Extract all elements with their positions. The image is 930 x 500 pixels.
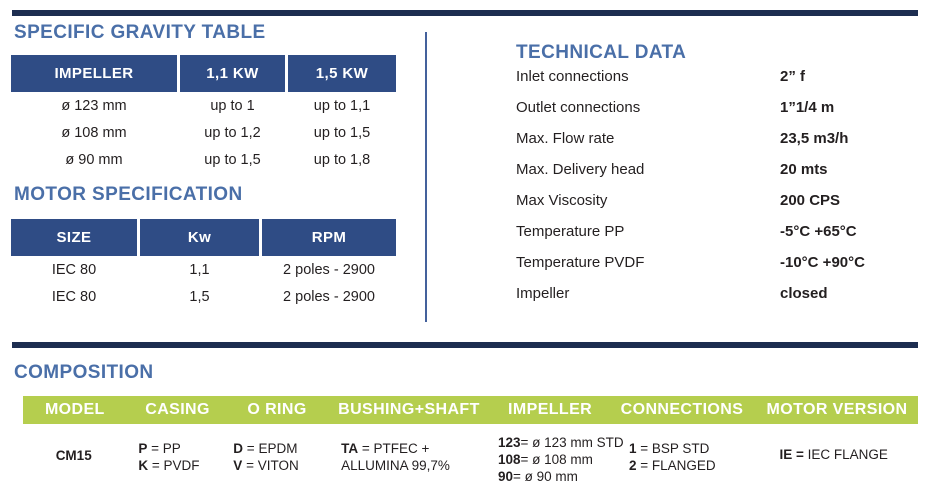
column-header-casing: CASING — [127, 401, 229, 419]
top-rule — [12, 10, 918, 16]
cell-1-1-kw: up to 1 — [180, 92, 285, 119]
option-code: 90 — [498, 469, 513, 484]
option-code: 108 — [498, 452, 521, 467]
table-row: ø 123 mm up to 1 up to 1,1 — [11, 92, 396, 119]
composition-option: 123= ø 123 mm STD — [498, 434, 611, 451]
technical-data-row: Impeller closed — [516, 285, 916, 316]
option-sep: = — [636, 441, 651, 456]
column-header-o-ring: O RING — [228, 401, 325, 419]
technical-data-label: Max. Flow rate — [516, 130, 614, 147]
cell-rpm: 2 poles - 2900 — [262, 283, 396, 310]
section-heading-technical-data: TECHNICAL DATA — [516, 42, 686, 64]
option-code: K — [138, 458, 148, 473]
technical-data-row: Max Viscosity 200 CPS — [516, 192, 916, 223]
cell-1-1-kw: up to 1,2 — [180, 119, 285, 146]
technical-data-label: Outlet connections — [516, 99, 640, 116]
technical-data-value: 1”1/4 m — [780, 99, 834, 116]
option-desc: FLANGED — [652, 458, 716, 473]
option-sep: = — [636, 458, 651, 473]
option-code: IE — [780, 447, 793, 462]
composition-option: TA = PTFEC + — [341, 440, 486, 457]
option-desc: BSP STD — [652, 441, 710, 456]
composition-option: V = VITON — [233, 457, 321, 474]
column-header-model: MODEL — [23, 401, 127, 419]
technical-data-label: Inlet connections — [516, 68, 629, 85]
table-row: ø 90 mm up to 1,5 up to 1,8 — [11, 146, 396, 173]
option-sep: = — [792, 447, 807, 462]
column-header-impeller: IMPELLER — [11, 55, 177, 92]
column-header-kw: Kw — [140, 219, 259, 256]
composition-option: 108= ø 108 mm — [498, 451, 611, 468]
composition-option: D = EPDM — [233, 440, 321, 457]
cell-kw: 1,5 — [140, 283, 259, 310]
option-sep: = — [520, 452, 532, 467]
technical-data-value: -5°C +65°C — [780, 223, 857, 240]
section-heading-motor-specification: MOTOR SPECIFICATION — [14, 184, 243, 206]
datasheet-page: SPECIFIC GRAVITY TABLE MOTOR SPECIFICATI… — [0, 0, 930, 500]
composition-option: 1 = BSP STD — [629, 440, 758, 457]
technical-data-value: 20 mts — [780, 161, 828, 178]
table-header-row: SIZE Kw RPM — [11, 219, 396, 256]
table-row: IEC 80 1,1 2 poles - 2900 — [11, 256, 396, 283]
option-desc: IEC FLANGE — [808, 447, 888, 462]
technical-data-label: Max. Delivery head — [516, 161, 644, 178]
cell-size: IEC 80 — [11, 283, 137, 310]
technical-data-value: 2” f — [780, 68, 805, 85]
column-header-rpm: RPM — [262, 219, 396, 256]
option-desc: VITON — [258, 458, 299, 473]
technical-data-row: Max. Delivery head 20 mts — [516, 161, 916, 192]
technical-data-value: -10°C +90°C — [780, 254, 865, 271]
option-sep: = — [243, 441, 258, 456]
option-desc: ALLUMINA 99,7% — [341, 458, 450, 473]
option-sep: = — [242, 458, 257, 473]
table-row: IEC 80 1,5 2 poles - 2900 — [11, 283, 396, 310]
table-row: ø 108 mm up to 1,2 up to 1,5 — [11, 119, 396, 146]
column-header-bushing-shaft: BUSHING+SHAFT — [326, 401, 493, 419]
composition-option: IE = IEC FLANGE — [780, 446, 919, 463]
composition-option: P = PP — [138, 440, 225, 457]
technical-data-label: Max Viscosity — [516, 192, 607, 209]
option-sep: = — [147, 441, 162, 456]
column-header-motor-version: MOTOR VERSION — [756, 401, 918, 419]
column-header-impeller: IMPELLER — [492, 401, 608, 419]
technical-data-label: Impeller — [516, 285, 569, 302]
table-header-row: IMPELLER 1,1 KW 1,5 KW — [11, 55, 396, 92]
composition-option: 2 = FLANGED — [629, 457, 758, 474]
section-heading-specific-gravity: SPECIFIC GRAVITY TABLE — [14, 22, 266, 44]
vertical-divider — [425, 32, 427, 322]
option-desc: PP — [163, 441, 181, 456]
option-sep: = — [513, 469, 525, 484]
option-desc: PVDF — [164, 458, 200, 473]
option-desc: PTFEC + — [374, 441, 430, 456]
technical-data-label: Temperature PVDF — [516, 254, 644, 271]
composition-cell-motor-version: IE = IEC FLANGE — [758, 432, 919, 463]
column-header-connections: CONNECTIONS — [608, 401, 756, 419]
cell-impeller: ø 123 mm — [11, 92, 177, 119]
composition-body-row: CM15 P = PP K = PVDF D = EPDM V = VITON … — [23, 432, 918, 485]
option-code: V — [233, 458, 242, 473]
option-desc: ø 108 mm — [532, 452, 593, 467]
column-header-1-5-kw: 1,5 KW — [288, 55, 396, 92]
option-sep: = — [520, 435, 532, 450]
cell-impeller: ø 90 mm — [11, 146, 177, 173]
option-code: 123 — [498, 435, 521, 450]
cell-kw: 1,1 — [140, 256, 259, 283]
cell-rpm: 2 poles - 2900 — [262, 256, 396, 283]
technical-data-value: 23,5 m3/h — [780, 130, 848, 147]
composition-option: 90= ø 90 mm — [498, 468, 611, 485]
composition-cell-impeller: 123= ø 123 mm STD 108= ø 108 mm 90= ø 90… — [486, 432, 611, 485]
section-divider-rule — [12, 342, 918, 348]
technical-data-row: Temperature PVDF -10°C +90°C — [516, 254, 916, 285]
technical-data-row: Temperature PP -5°C +65°C — [516, 223, 916, 254]
technical-data-value: closed — [780, 285, 828, 302]
column-header-1-1-kw: 1,1 KW — [180, 55, 285, 92]
cell-1-5-kw: up to 1,8 — [288, 146, 396, 173]
cell-1-5-kw: up to 1,1 — [288, 92, 396, 119]
technical-data-row: Outlet connections 1”1/4 m — [516, 99, 916, 130]
option-sep: = — [358, 441, 373, 456]
composition-cell-o-ring: D = EPDM V = VITON — [225, 432, 321, 474]
cell-1-5-kw: up to 1,5 — [288, 119, 396, 146]
option-desc: EPDM — [258, 441, 297, 456]
composition-option: ALLUMINA 99,7% — [341, 457, 486, 474]
composition-cell-model: CM15 — [23, 432, 124, 464]
composition-cell-connections: 1 = BSP STD 2 = FLANGED — [611, 432, 758, 474]
cell-impeller: ø 108 mm — [11, 119, 177, 146]
option-sep: = — [148, 458, 163, 473]
option-code: D — [233, 441, 243, 456]
composition-header-row: MODEL CASING O RING BUSHING+SHAFT IMPELL… — [23, 396, 918, 424]
technical-data-label: Temperature PP — [516, 223, 624, 240]
technical-data-row: Max. Flow rate 23,5 m3/h — [516, 130, 916, 161]
option-desc: ø 123 mm STD — [532, 435, 624, 450]
section-heading-composition: COMPOSITION — [14, 362, 154, 384]
composition-cell-casing: P = PP K = PVDF — [124, 432, 225, 474]
cell-1-1-kw: up to 1,5 — [180, 146, 285, 173]
column-header-size: SIZE — [11, 219, 137, 256]
technical-data-value: 200 CPS — [780, 192, 840, 209]
motor-specification-table: SIZE Kw RPM IEC 80 1,1 2 poles - 2900 IE… — [11, 219, 396, 310]
composition-cell-bushing-shaft: TA = PTFEC + ALLUMINA 99,7% — [321, 432, 486, 474]
composition-option: K = PVDF — [138, 457, 225, 474]
technical-data-row: Inlet connections 2” f — [516, 68, 916, 99]
technical-data-list: Inlet connections 2” f Outlet connection… — [516, 68, 916, 316]
option-desc: ø 90 mm — [525, 469, 578, 484]
cell-size: IEC 80 — [11, 256, 137, 283]
specific-gravity-table: IMPELLER 1,1 KW 1,5 KW ø 123 mm up to 1 … — [11, 55, 396, 173]
option-code: TA — [341, 441, 358, 456]
